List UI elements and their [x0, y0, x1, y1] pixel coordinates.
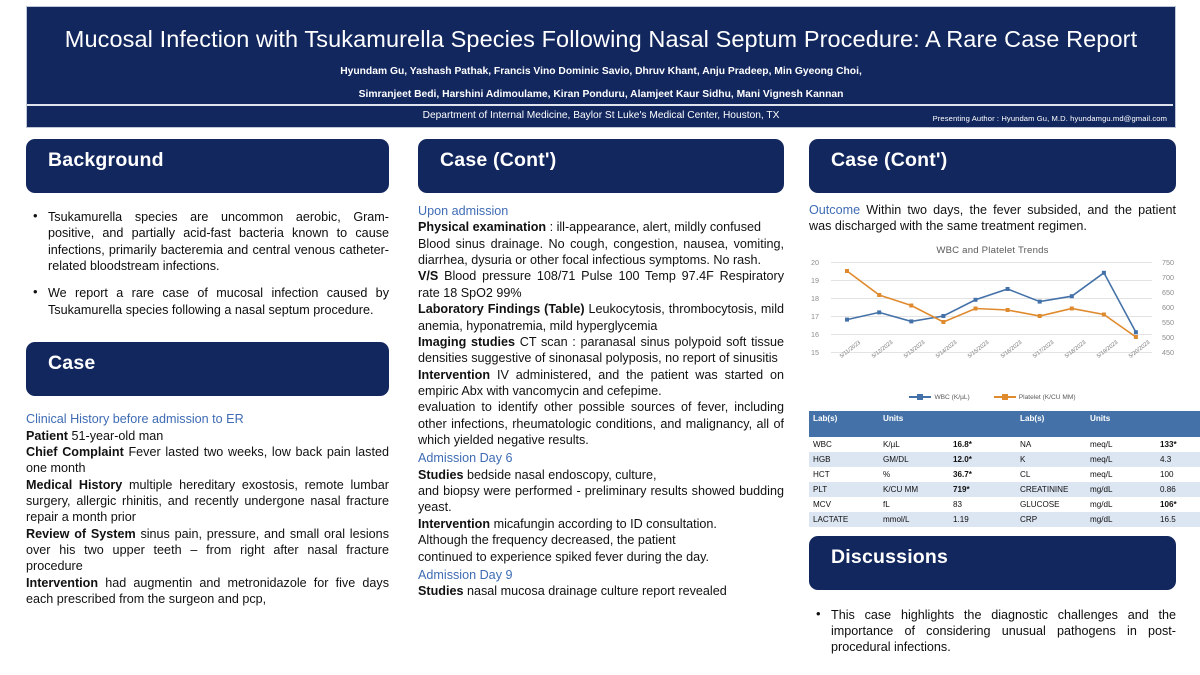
- case-entry: Although the frequency decreased, the pa…: [418, 532, 784, 548]
- wbc-platelet-chart: WBC and Platelet Trends 1516171819204505…: [809, 245, 1176, 405]
- authors-line-1: Hyundam Gu, Yashash Pathak, Francis Vino…: [27, 66, 1175, 77]
- table-row: MCVfL83: [809, 497, 1016, 512]
- section-header-case-cont-outcome: Case (Cont'): [809, 139, 1176, 193]
- case-entry: Intervention had augmentin and metronida…: [26, 575, 389, 608]
- case-subheading-upon-admission: Upon admission: [418, 203, 784, 219]
- lab-units-cell: meq/L: [1086, 437, 1156, 452]
- section-header-case-cont: Case (Cont'): [418, 139, 784, 193]
- table-row: CREATININEmg/dL0.86: [1016, 482, 1200, 497]
- table-row: HCT%36.7*: [809, 467, 1016, 482]
- list-item: This case highlights the diagnostic chal…: [829, 607, 1176, 656]
- case-subheading-clinical-history: Clinical History before admission to ER: [26, 411, 389, 427]
- case-entry-text: micafungin according to ID consultation.: [490, 517, 717, 531]
- table-header-row: Lab(s)Units: [1016, 411, 1200, 437]
- lab-value-cell: 106*: [1156, 497, 1200, 512]
- lab-value-cell: 36.7*: [949, 467, 1016, 482]
- outcome-text: Within two days, the fever subsided, and…: [809, 203, 1176, 233]
- case-subheading-admission-day-9: Admission Day 9: [418, 567, 784, 583]
- case-entry: Medical History multiple hereditary exos…: [26, 477, 389, 526]
- case-entry-label: Imaging studies: [418, 335, 515, 349]
- lab-name-cell: WBC: [809, 437, 879, 452]
- lab-name-cell: LACTATE: [809, 512, 879, 527]
- lab-units-cell: fL: [879, 497, 949, 512]
- lab-name-cell: GLUCOSE: [1016, 497, 1086, 512]
- presenting-author-note: Presenting Author : Hyundam Gu, M.D. hyu…: [933, 114, 1167, 123]
- case-entry: Intervention micafungin according to ID …: [418, 516, 784, 532]
- case-entry-label: Physical examination: [418, 220, 546, 234]
- case-entry-label: V/S: [418, 269, 438, 283]
- case-subheading-admission-day-6: Admission Day 6: [418, 450, 784, 466]
- lab-value-cell: 4.3: [1156, 452, 1200, 467]
- case-entry: Patient 51-year-old man: [26, 428, 389, 444]
- lab-units-cell: %: [879, 467, 949, 482]
- case-entry-text: 51-year-old man: [68, 429, 163, 443]
- legend-item-wbc: WBC (K/µL): [909, 394, 969, 401]
- chart-title: WBC and Platelet Trends: [809, 245, 1176, 256]
- lab-units-cell: GM/DL: [879, 452, 949, 467]
- lab-name-cell: CL: [1016, 467, 1086, 482]
- outcome-body: Outcome Within two days, the fever subsi…: [809, 202, 1176, 235]
- list-item: Tsukamurella species are uncommon aerobi…: [46, 209, 389, 274]
- table-row: Kmeq/L4.3: [1016, 452, 1200, 467]
- lab-name-cell: CRP: [1016, 512, 1086, 527]
- lab-units-cell: mg/dL: [1086, 497, 1156, 512]
- poster-title: Mucosal Infection with Tsukamurella Spec…: [27, 7, 1175, 53]
- case-cont-body: Upon admission Physical examination : il…: [418, 203, 784, 600]
- lab-value-cell: 0.86: [1156, 482, 1200, 497]
- poster-canvas: Mucosal Infection with Tsukamurella Spec…: [0, 0, 1200, 675]
- case-entry-label: Patient: [26, 429, 68, 443]
- column-header: Units: [1086, 411, 1156, 437]
- case-entry-text: bedside nasal endoscopy, culture,: [464, 468, 657, 482]
- case-entry: Imaging studies CT scan : paranasal sinu…: [418, 334, 784, 367]
- lab-value-cell: 133*: [1156, 437, 1200, 452]
- lab-value-cell: 719*: [949, 482, 1016, 497]
- case-entry: Blood sinus drainage. No cough, congesti…: [418, 236, 784, 269]
- header-divider: [27, 104, 1173, 106]
- case-entry-text: and biopsy were performed - preliminary …: [418, 484, 784, 514]
- case-entry-text: continued to experience spiked fever dur…: [418, 550, 709, 564]
- case-entry: Laboratory Findings (Table) Leukocytosis…: [418, 301, 784, 334]
- case-entry-label: Intervention: [418, 368, 490, 382]
- table-row: LACTATEmmol/L1.19: [809, 512, 1016, 527]
- case-entry-text: Blood pressure 108/71 Pulse 100 Temp 97.…: [418, 269, 784, 299]
- case-entry: evaluation to identify other possible so…: [418, 399, 784, 448]
- case-entry: Studies nasal mucosa drainage culture re…: [418, 583, 784, 599]
- lab-name-cell: MCV: [809, 497, 879, 512]
- lab-value-cell: 1.19: [949, 512, 1016, 527]
- chart-legend: WBC (K/µL) Platelet (K/CU MM): [809, 394, 1176, 401]
- section-header-background: Background: [26, 139, 389, 193]
- table-row: NAmeq/L133*: [1016, 437, 1200, 452]
- case-entry: continued to experience spiked fever dur…: [418, 549, 784, 565]
- outcome-entry: Outcome Within two days, the fever subsi…: [809, 202, 1176, 235]
- lab-name-cell: NA: [1016, 437, 1086, 452]
- lab-units-cell: K/CU MM: [879, 482, 949, 497]
- legend-marker-icon: [994, 396, 1016, 398]
- background-bullet-list: Tsukamurella species are uncommon aerobi…: [26, 209, 389, 318]
- case-entry: V/S Blood pressure 108/71 Pulse 100 Temp…: [418, 268, 784, 301]
- case-entry-text: nasal mucosa drainage culture report rev…: [464, 584, 727, 598]
- lab-value-cell: 16.8*: [949, 437, 1016, 452]
- section-header-case: Case: [26, 342, 389, 396]
- case-entry: Studies bedside nasal endoscopy, culture…: [418, 467, 784, 483]
- poster-header: Mucosal Infection with Tsukamurella Spec…: [26, 6, 1176, 128]
- case-entry-label: Laboratory Findings (Table): [418, 302, 585, 316]
- case-entry-label: Studies: [418, 468, 464, 482]
- lab-name-cell: K: [1016, 452, 1086, 467]
- table-row: WBCK/µL16.8*: [809, 437, 1016, 452]
- lab-results-tables: Lab(s)UnitsWBCK/µL16.8*HGBGM/DL12.0*HCT%…: [809, 411, 1176, 527]
- lab-name-cell: CREATININE: [1016, 482, 1086, 497]
- case-entry-label: Intervention: [418, 517, 490, 531]
- case-body: Clinical History before admission to ER …: [26, 411, 389, 607]
- case-entry-text: Blood sinus drainage. No cough, congesti…: [418, 237, 784, 267]
- column-header: [1156, 411, 1200, 437]
- discussions-bullet-list: This case highlights the diagnostic chal…: [809, 607, 1176, 656]
- lab-units-cell: K/µL: [879, 437, 949, 452]
- table-row: PLTK/CU MM719*: [809, 482, 1016, 497]
- lab-name-cell: PLT: [809, 482, 879, 497]
- table-row: GLUCOSEmg/dL106*: [1016, 497, 1200, 512]
- lab-value-cell: 83: [949, 497, 1016, 512]
- table-header-row: Lab(s)Units: [809, 411, 1016, 437]
- column-header: Lab(s): [1016, 411, 1086, 437]
- chart-plot-area: 1516171819204505005506006507007505/11/20…: [809, 258, 1176, 370]
- list-item: We report a rare case of mucosal infecti…: [46, 285, 389, 318]
- case-entry-text: : ill-appearance, alert, mildly confused: [546, 220, 761, 234]
- column-middle: Case (Cont') Upon admission Physical exa…: [418, 139, 784, 600]
- lab-name-cell: HCT: [809, 467, 879, 482]
- chart-series-svg: [809, 258, 1176, 370]
- case-entry: Review of System sinus pain, pressure, a…: [26, 526, 389, 575]
- case-entry-label: Chief Complaint: [26, 445, 124, 459]
- case-entry: Physical examination : ill-appearance, a…: [418, 219, 784, 235]
- legend-item-platelet: Platelet (K/CU MM): [994, 394, 1076, 401]
- column-header: Units: [879, 411, 949, 437]
- table-row: CRPmg/dL16.5: [1016, 512, 1200, 527]
- section-header-discussions: Discussions: [809, 536, 1176, 590]
- case-entry-text: Although the frequency decreased, the pa…: [418, 533, 676, 547]
- table-row: CLmeq/L100: [1016, 467, 1200, 482]
- case-entry-label: Studies: [418, 584, 464, 598]
- column-right: Case (Cont') Outcome Within two days, th…: [809, 139, 1176, 667]
- case-entry-label: Intervention: [26, 576, 98, 590]
- case-entry-label: Review of System: [26, 527, 136, 541]
- case-entry-label: Medical History: [26, 478, 122, 492]
- lab-units-cell: mmol/L: [879, 512, 949, 527]
- lab-units-cell: meq/L: [1086, 467, 1156, 482]
- outcome-label: Outcome: [809, 203, 860, 217]
- case-entry: Chief Complaint Fever lasted two weeks, …: [26, 444, 389, 477]
- lab-units-cell: mg/dL: [1086, 512, 1156, 527]
- authors-line-2: Simranjeet Bedi, Harshini Adimoulame, Ki…: [27, 89, 1175, 100]
- table-row: HGBGM/DL12.0*: [809, 452, 1016, 467]
- case-entry-text: evaluation to identify other possible so…: [418, 400, 784, 447]
- lab-table-right: Lab(s)UnitsNAmeq/L133*Kmeq/L4.3CLmeq/L10…: [1016, 411, 1200, 527]
- case-entry: and biopsy were performed - preliminary …: [418, 483, 784, 516]
- column-header: Lab(s): [809, 411, 879, 437]
- column-header: [949, 411, 1016, 437]
- lab-units-cell: meq/L: [1086, 452, 1156, 467]
- legend-label: Platelet (K/CU MM): [1019, 394, 1076, 401]
- column-left: Background Tsukamurella species are unco…: [26, 139, 389, 607]
- legend-marker-icon: [909, 396, 931, 398]
- lab-name-cell: HGB: [809, 452, 879, 467]
- lab-table-left: Lab(s)UnitsWBCK/µL16.8*HGBGM/DL12.0*HCT%…: [809, 411, 1016, 527]
- lab-value-cell: 100: [1156, 467, 1200, 482]
- lab-value-cell: 12.0*: [949, 452, 1016, 467]
- legend-label: WBC (K/µL): [934, 394, 969, 401]
- case-entry: Intervention IV administered, and the pa…: [418, 367, 784, 400]
- lab-units-cell: mg/dL: [1086, 482, 1156, 497]
- lab-value-cell: 16.5: [1156, 512, 1200, 527]
